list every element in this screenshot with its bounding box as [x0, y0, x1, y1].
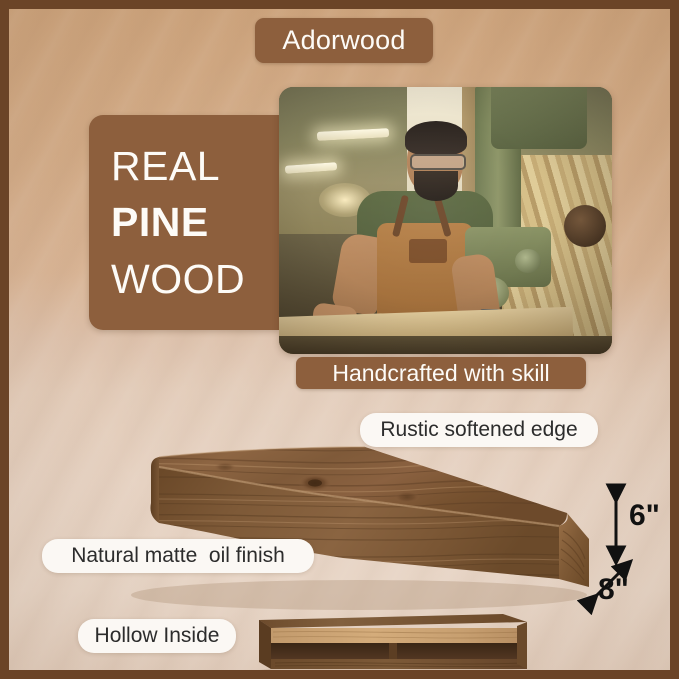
photo-caption-text: Handcrafted with skill	[332, 360, 549, 387]
claim-line-wood: WOOD	[111, 251, 245, 308]
claim-line-pine: PINE	[111, 194, 209, 251]
hollow-top-face	[259, 614, 527, 628]
beam-shelf-image	[97, 427, 597, 612]
dimension-label-height: 6"	[629, 499, 660, 533]
photo-scene	[279, 87, 612, 354]
beam-left-end	[150, 457, 159, 523]
hollow-cavity	[271, 643, 527, 659]
workshop-photo	[279, 87, 612, 354]
hollow-front-board	[271, 628, 527, 643]
dimension-label-depth: 8"	[598, 573, 629, 607]
hollow-left-end	[259, 620, 271, 669]
product-infographic: Adorwood REAL PINE WOOD	[0, 0, 679, 679]
feature-label-text: Natural matte oil finish	[71, 544, 285, 568]
feature-label-text: Rustic softened edge	[380, 418, 577, 442]
brand-name: Adorwood	[282, 25, 405, 56]
feature-label-hollow-inside: Hollow Inside	[78, 619, 236, 653]
brand-badge: Adorwood	[255, 18, 433, 63]
photo-caption-badge: Handcrafted with skill	[296, 357, 586, 389]
hollow-right-end	[517, 622, 527, 669]
feature-label-rustic-edge: Rustic softened edge	[360, 413, 598, 447]
hollow-center-divider	[389, 643, 397, 659]
claim-panel: REAL PINE WOOD	[89, 115, 279, 330]
photo-shading-overlay	[279, 87, 612, 354]
feature-label-oil-finish: Natural matte oil finish	[42, 539, 314, 573]
claim-line-real: REAL	[111, 138, 220, 195]
hollow-shelf-image	[241, 606, 536, 678]
feature-label-text: Hollow Inside	[95, 624, 220, 648]
